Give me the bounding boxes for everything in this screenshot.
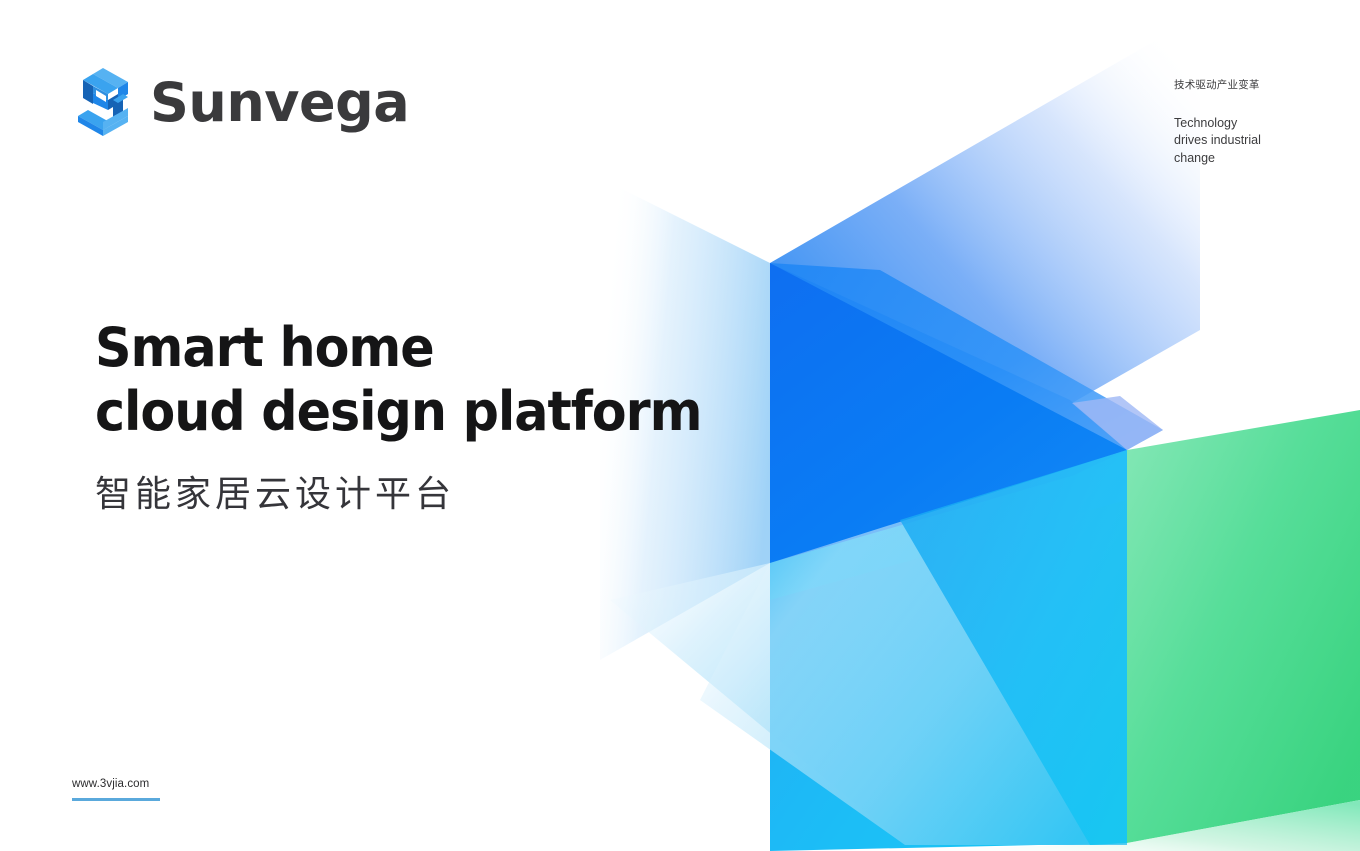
art-shape-cyan-slab <box>770 450 1127 600</box>
art-shape-green-plane <box>1127 410 1360 843</box>
art-shape-teal-overlap <box>1090 450 1127 845</box>
art-shape-cube-lower-face <box>700 450 1127 845</box>
art-shape-periwinkle-sliver <box>1072 396 1163 450</box>
art-shape-chevron-highlight <box>770 263 1163 450</box>
tagline-english: Technology drives industrial change <box>1174 115 1300 168</box>
art-shape-cube-face-cyan <box>770 450 1127 851</box>
brand-wordmark: Sunvega <box>150 76 409 130</box>
art-shape-top-right-wing <box>770 36 1200 403</box>
tagline-chinese: 技术驱动产业变革 <box>1174 78 1300 93</box>
subtitle-chinese: 智能家居云设计平台 <box>95 465 755 517</box>
page-title: Smart home cloud design platform 智能家居云设计… <box>95 316 755 517</box>
art-shape-cube-face-blue-body <box>770 263 1127 563</box>
website-url-underline <box>72 798 160 801</box>
footer-website[interactable]: www.3vjia.com <box>72 778 160 801</box>
tagline-english-line-2: drives industrial <box>1174 132 1300 150</box>
website-url-text: www.3vjia.com <box>72 778 160 790</box>
headline-line-2: cloud design platform <box>95 380 715 444</box>
art-shape-cube-face-blue <box>770 263 1127 563</box>
tagline-english-line-3: change <box>1174 150 1300 168</box>
tagline-english-line-1: Technology <box>1174 115 1300 133</box>
sunvega-isometric-cube-icon <box>72 66 134 138</box>
art-shape-cyan-band <box>900 450 1127 845</box>
tagline-block: 技术驱动产业变革 Technology drives industrial ch… <box>1174 78 1300 168</box>
art-shape-cube-chevron <box>770 263 1127 563</box>
presentation-slide: Sunvega 技术驱动产业变革 Technology drives indus… <box>0 0 1360 851</box>
art-shape-green-fade <box>900 800 1360 851</box>
brand-logo[interactable]: Sunvega <box>72 66 409 138</box>
headline-line-1: Smart home <box>95 316 715 380</box>
